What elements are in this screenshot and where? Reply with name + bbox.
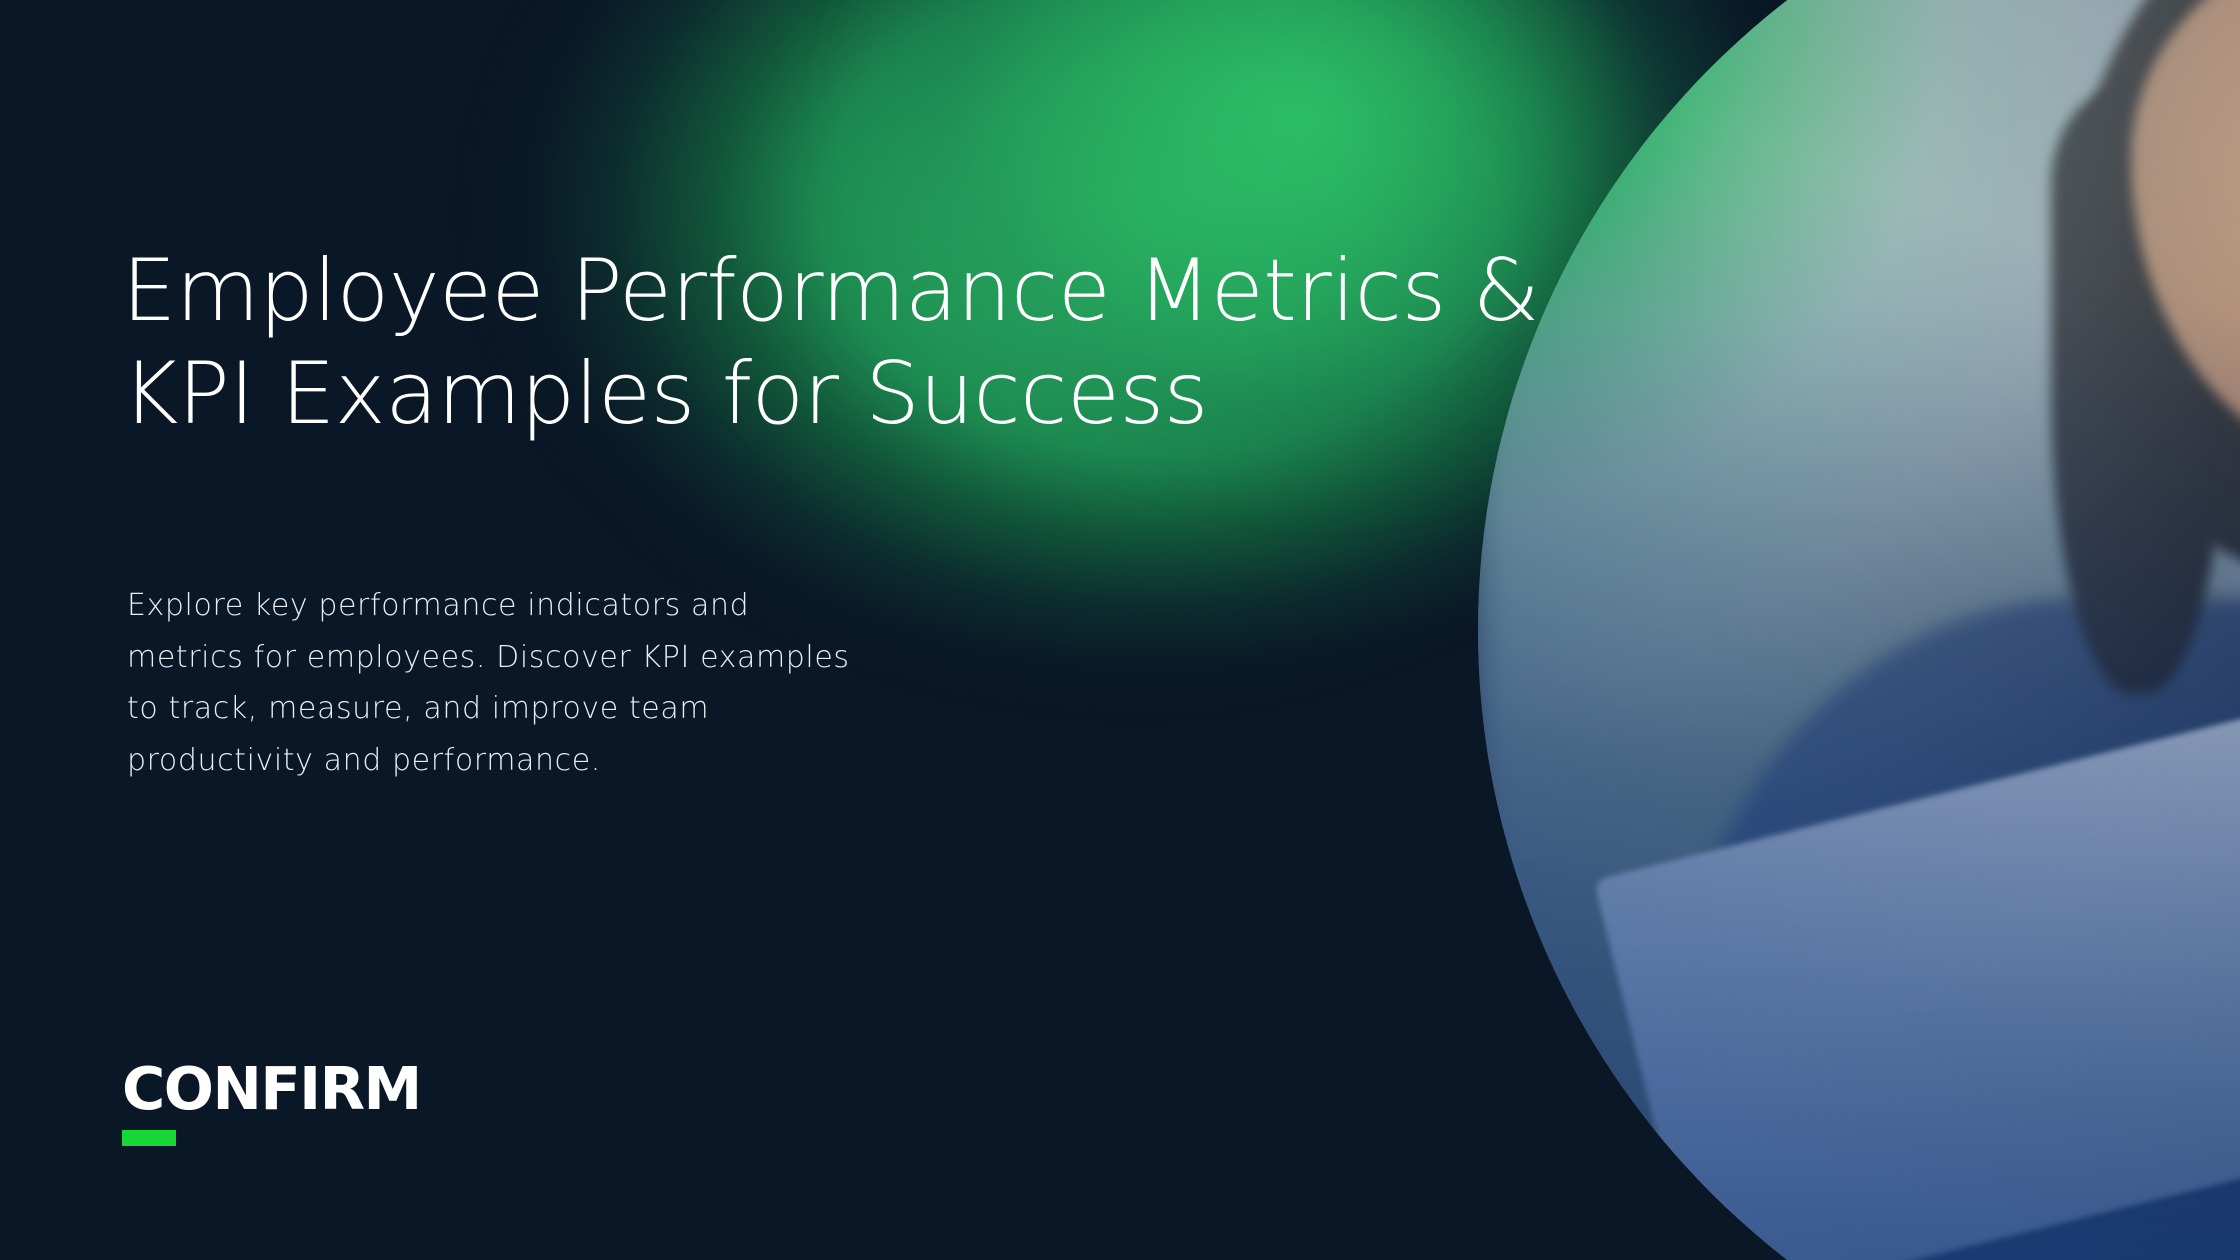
hero-subcopy: Explore key performance indicators and m… xyxy=(127,580,1027,786)
confirm-logo[interactable]: CONFIRM xyxy=(122,1059,421,1146)
hero-banner: Employee Performance Metrics & KPI Examp… xyxy=(0,0,2240,1260)
page-title: Employee Performance Metrics & KPI Examp… xyxy=(122,240,1762,446)
logo-wordmark: CONFIRM xyxy=(122,1059,421,1118)
photo-color-grade xyxy=(1478,0,2240,1260)
hero-photo-circle xyxy=(1478,0,2240,1260)
logo-accent-bar xyxy=(122,1130,176,1146)
